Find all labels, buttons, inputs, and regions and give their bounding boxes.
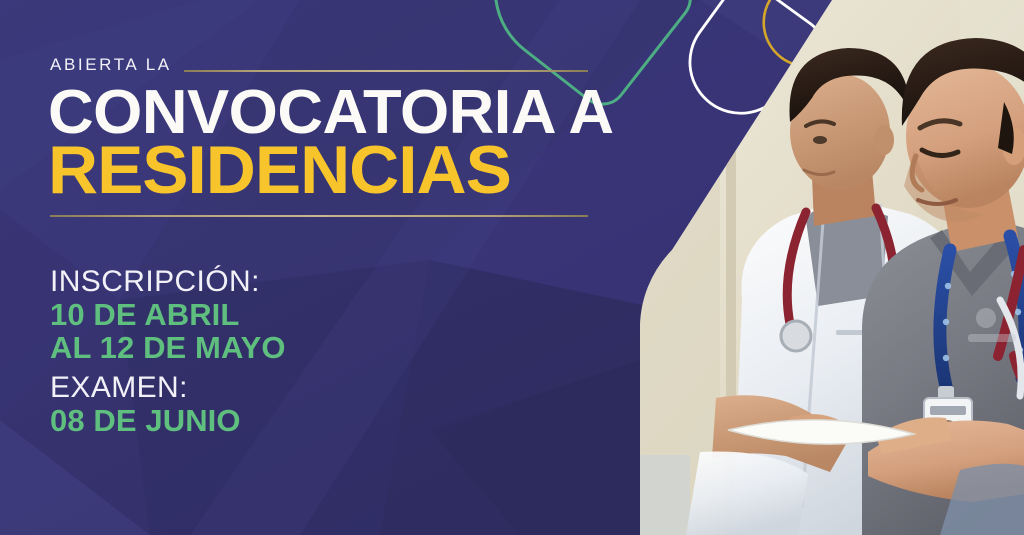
divider-bottom: [50, 215, 588, 217]
inscription-block: INSCRIPCIÓN: 10 DE ABRIL AL 12 DE MAYO: [50, 266, 286, 365]
exam-label: EXAMEN:: [50, 372, 241, 404]
headline-text-column: ABIERTA LA CONVOCATORIA A RESIDENCIAS IN…: [48, 0, 608, 535]
divider-top: [184, 70, 588, 72]
exam-date: 08 DE JUNIO: [50, 404, 241, 437]
kicker-text: ABIERTA LA: [50, 56, 172, 73]
inscription-date-end: AL 12 DE MAYO: [50, 331, 286, 364]
residency-call-banner: ABIERTA LA CONVOCATORIA A RESIDENCIAS IN…: [0, 0, 1024, 535]
inscription-date-start: 10 DE ABRIL: [50, 298, 286, 331]
headline-line-2: RESIDENCIAS: [48, 139, 511, 202]
exam-block: EXAMEN: 08 DE JUNIO: [50, 372, 241, 437]
inscription-label: INSCRIPCIÓN:: [50, 266, 286, 298]
